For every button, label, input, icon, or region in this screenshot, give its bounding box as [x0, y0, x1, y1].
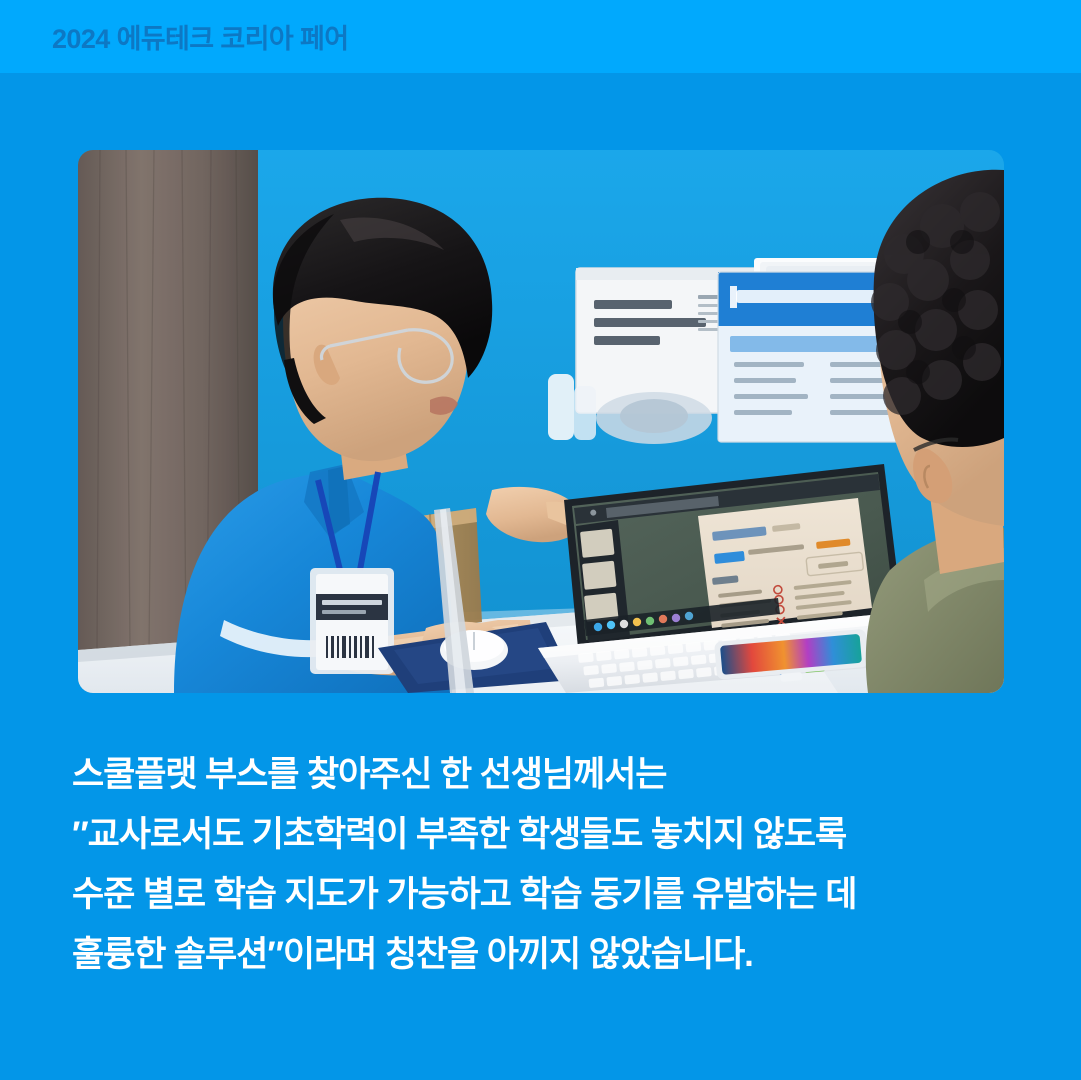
brochure-display [548, 258, 918, 444]
caption-line-1: 스쿨플랫 부스를 찾아주신 한 선생님께서는 [72, 745, 1012, 805]
caption-line-2: ″교사로서도 기초학력이 부족한 학생들도 놓치지 않도록 [72, 805, 1012, 865]
event-photo-illustration [78, 150, 1004, 693]
page-title: 2024 에듀테크 코리아 페어 [52, 17, 349, 56]
caption-block: 스쿨플랫 부스를 찾아주신 한 선생님께서는 ″교사로서도 기초학력이 부족한 … [72, 745, 1012, 985]
header-band: 2024 에듀테크 코리아 페어 [0, 0, 1081, 73]
event-photo [78, 150, 1004, 693]
caption-line-3: 수준 별로 학습 지도가 가능하고 학습 동기를 유발하는 데 [72, 865, 1012, 925]
promo-card: 2024 에듀테크 코리아 페어 [0, 0, 1081, 1080]
name-badge [310, 568, 394, 674]
caption-line-4: 훌륭한 솔루션″이라며 칭찬을 아끼지 않았습니다. [72, 925, 1012, 985]
